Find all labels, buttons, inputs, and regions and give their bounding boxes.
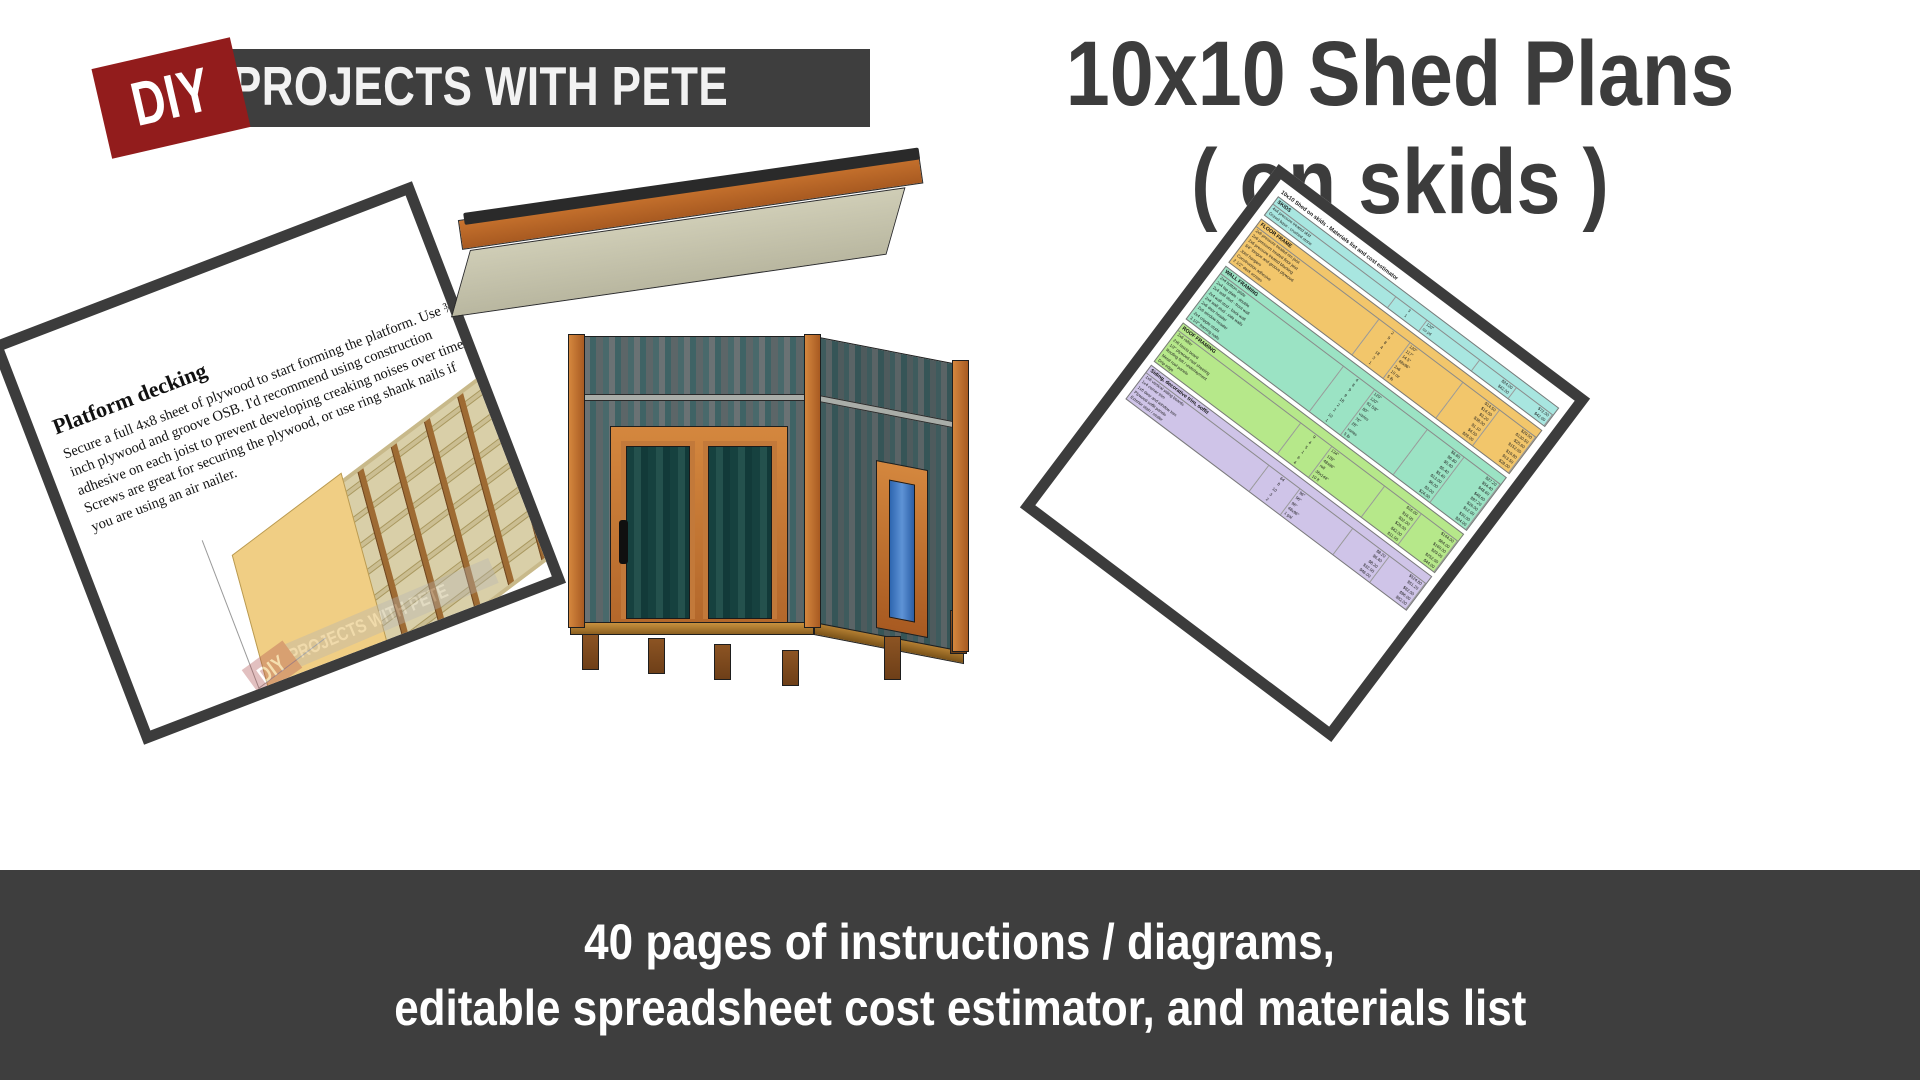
window-glass xyxy=(889,480,915,623)
front-belt-trim xyxy=(572,394,812,401)
page-title: 10x10 Shed Plans ( on skids ) xyxy=(960,28,1840,230)
shed-double-door xyxy=(610,426,788,632)
corner-trim-left xyxy=(568,334,585,628)
door-leaf-left xyxy=(621,441,695,619)
cost-estimator-spreadsheet-preview: 10x10 Shed on skids - Materials list and… xyxy=(1020,164,1590,742)
shed-window xyxy=(876,460,928,638)
bottom-banner: 40 pages of instructions / diagrams, edi… xyxy=(0,870,1920,1080)
projects-with-pete-banner: PROJECTS WITH PETE xyxy=(214,49,870,127)
bottom-banner-line-1: 40 pages of instructions / diagrams, xyxy=(585,917,1336,967)
skid-post-3 xyxy=(714,644,731,680)
corner-trim-center xyxy=(804,334,821,628)
corner-trim-right xyxy=(952,360,969,652)
skid-post-2 xyxy=(648,638,665,674)
spreadsheet-bands: SKIDS4x4 pressure treated skid3120"$24.0… xyxy=(1126,196,1560,610)
shed-3d-render xyxy=(452,198,1092,688)
diy-badge: DIY xyxy=(91,37,250,159)
watermark-diy-label: DIY xyxy=(254,651,291,686)
skid-post-4 xyxy=(782,650,799,686)
skid-post-1 xyxy=(582,634,599,670)
door-handle xyxy=(619,520,628,564)
title-line-1: 10x10 Shed Plans xyxy=(1022,28,1779,122)
projects-with-pete-label: PROJECTS WITH PETE xyxy=(232,59,728,114)
skid-post-5 xyxy=(884,636,901,680)
brand-logo: DIY PROJECTS WITH PETE xyxy=(96,42,870,134)
title-line-2: ( on skids ) xyxy=(1022,136,1779,230)
bottom-banner-line-2: editable spreadsheet cost estimator, and… xyxy=(394,983,1526,1033)
door-leaf-right xyxy=(703,441,777,619)
promo-graphic: DIY PROJECTS WITH PETE 10x10 Shed Plans … xyxy=(0,0,1920,1080)
diy-badge-label: DIY xyxy=(126,59,217,137)
front-floor-band xyxy=(570,622,814,635)
